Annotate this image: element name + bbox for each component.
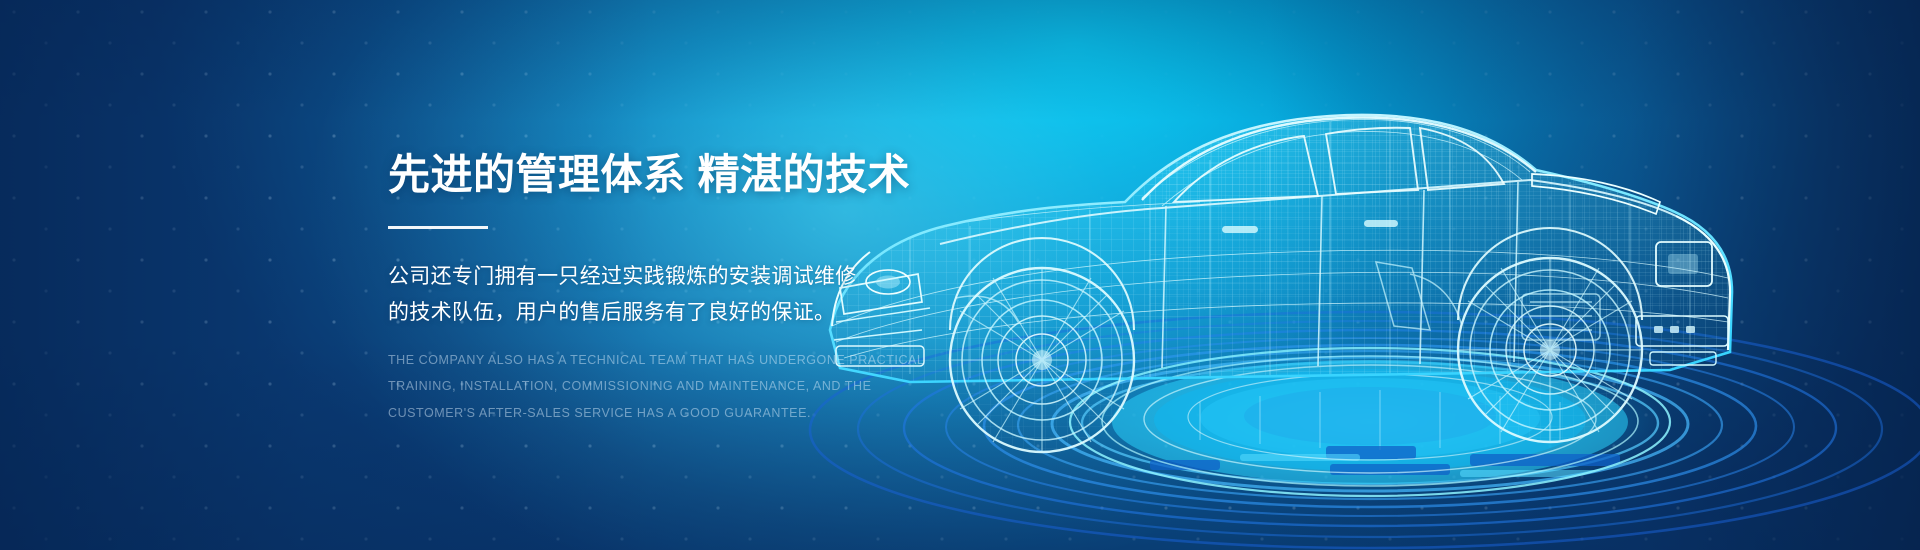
banner-copy: 先进的管理体系 精湛的技术 公司还专门拥有一只经过实践锻炼的安装调试维修 的技术…	[388, 150, 908, 426]
lede-line-1: 公司还专门拥有一只经过实践锻炼的安装调试维修	[388, 259, 908, 295]
wireframe-car-artwork	[770, 30, 1920, 550]
subtitle-line-3: CUSTOMER'S AFTER-SALES SERVICE HAS A GOO…	[388, 400, 908, 427]
page-title: 先进的管理体系 精湛的技术	[388, 150, 908, 200]
subtitle-line-1: THE COMPANY ALSO HAS A TECHNICAL TEAM TH…	[388, 347, 908, 374]
lede-paragraph: 公司还专门拥有一只经过实践锻炼的安装调试维修 的技术队伍，用户的售后服务有了良好…	[388, 259, 908, 331]
subtitle-line-2: TRAINING, INSTALLATION, COMMISSIONING AN…	[388, 373, 908, 400]
title-divider	[388, 226, 488, 229]
car-wheel-rear	[1458, 258, 1642, 442]
wireframe-suv-icon	[770, 30, 1920, 550]
hero-banner: 先进的管理体系 精湛的技术 公司还专门拥有一只经过实践锻炼的安装调试维修 的技术…	[0, 0, 1920, 550]
subtitle-paragraph: THE COMPANY ALSO HAS A TECHNICAL TEAM TH…	[388, 347, 908, 427]
lede-line-2: 的技术队伍，用户的售后服务有了良好的保证。	[388, 295, 908, 331]
car-wheel-front	[950, 268, 1134, 452]
